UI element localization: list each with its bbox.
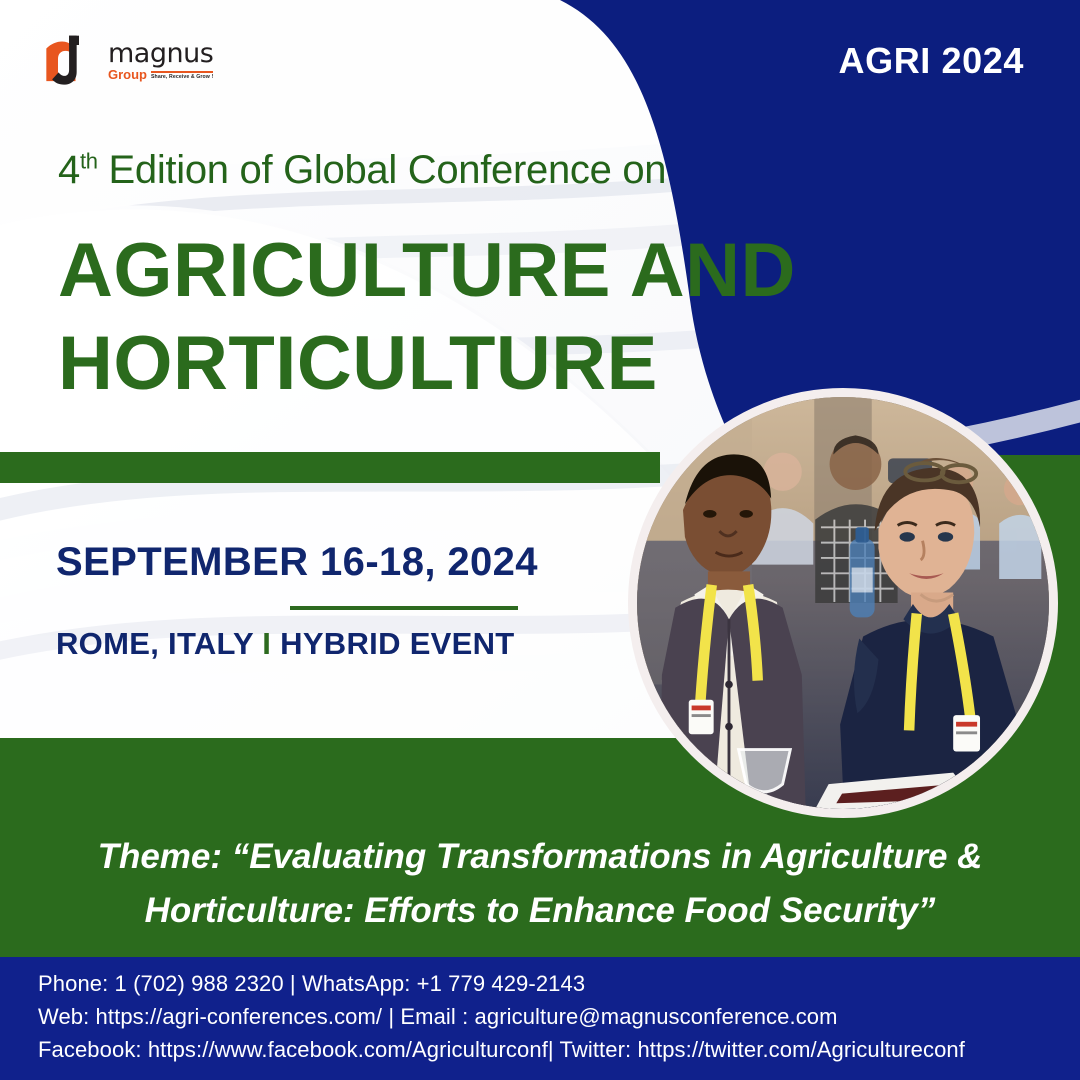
date-underline-rule xyxy=(290,606,518,610)
edition-ordinal: th xyxy=(80,149,98,174)
edition-number: 4 xyxy=(58,148,80,192)
title-line-2: HORTICULTURE xyxy=(58,318,796,411)
contact-footer: Phone: 1 (702) 988 2320 | WhatsApp: +1 7… xyxy=(0,957,1080,1080)
conference-theme: Theme: “Evaluating Transformations in Ag… xyxy=(0,830,1080,939)
logo-wordmark: magnus xyxy=(108,40,213,67)
logo-tagline: Share, Receive & Grow ! xyxy=(151,75,213,80)
event-location: ROME, ITALY I HYBRID EVENT xyxy=(56,626,515,662)
footer-web-email-line[interactable]: Web: https://agri-conferences.com/ | Ema… xyxy=(38,1004,1080,1030)
attendees-photo xyxy=(628,388,1058,818)
logo-group-word: Group xyxy=(108,68,147,81)
page-title: AGRICULTURE AND HORTICULTURE xyxy=(58,225,796,410)
mg-monogram-icon xyxy=(42,31,102,87)
magnus-group-logo[interactable]: magnus Group Share, Receive & Grow ! xyxy=(42,28,252,90)
event-code-badge: AGRI 2024 xyxy=(839,40,1025,82)
location-separator: I xyxy=(262,626,271,661)
title-line-1: AGRICULTURE AND xyxy=(58,228,796,313)
conference-poster: magnus Group Share, Receive & Grow ! AGR… xyxy=(0,0,1080,1080)
edition-rest: Edition of Global Conference on xyxy=(98,148,667,192)
event-dates: SEPTEMBER 16-18, 2024 xyxy=(56,540,538,585)
location-city: ROME, ITALY xyxy=(56,626,253,661)
attendees-photo-illustration xyxy=(637,397,1049,809)
footer-social-line[interactable]: Facebook: https://www.facebook.com/Agric… xyxy=(38,1037,1080,1063)
edition-line: 4th Edition of Global Conference on xyxy=(58,148,666,193)
green-divider-band xyxy=(0,452,660,483)
theme-line-1: Theme: “Evaluating Transformations in Ag… xyxy=(60,830,1020,884)
event-mode: HYBRID EVENT xyxy=(280,626,514,661)
logo-rule xyxy=(151,71,213,73)
theme-line-2: Horticulture: Efforts to Enhance Food Se… xyxy=(60,884,1020,938)
footer-phone-line[interactable]: Phone: 1 (702) 988 2320 | WhatsApp: +1 7… xyxy=(38,971,1080,997)
